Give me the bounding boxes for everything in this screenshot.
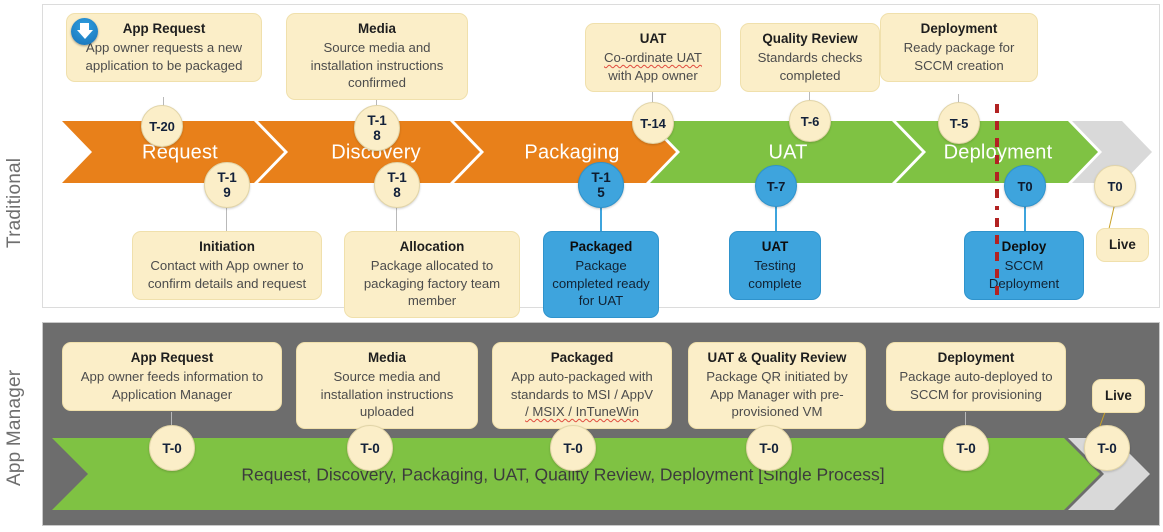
marker-label: T-0 — [560, 441, 586, 456]
am-note-media: Media Source media and installation inst… — [296, 342, 478, 429]
note-title: Live — [1105, 388, 1132, 403]
note-body-line2: with App owner — [608, 68, 697, 83]
marker-label: T-0 — [159, 441, 185, 456]
note-deploy: Deploy SCCM Deployment — [964, 231, 1084, 300]
note-title: Deployment — [895, 349, 1057, 367]
note-body-line3: / MSIX / InTuneWin — [525, 404, 639, 419]
note-title: Media — [295, 20, 459, 38]
note-title: Media — [305, 349, 469, 367]
note-body-line1: App auto-packaged with — [511, 369, 653, 384]
note-initiation: Initiation Contact with App owner to con… — [132, 231, 322, 300]
note-body: App owner feeds information to Applicati… — [81, 369, 264, 402]
note-title: Initiation — [141, 238, 313, 256]
note-title: UAT & Quality Review — [697, 349, 857, 367]
note-body: SCCM Deployment — [989, 258, 1059, 291]
connector — [396, 205, 397, 231]
am-note-uat-quality-review: UAT & Quality Review Package QR initiate… — [688, 342, 866, 429]
note-body: Source media and installation instructio… — [321, 369, 454, 419]
marker-label: T-14 — [640, 116, 666, 131]
marker-label: T-20 — [149, 119, 175, 134]
note-title: Allocation — [353, 238, 511, 256]
note-body-line1: Co-ordinate UAT — [604, 50, 702, 65]
note-body: Package completed ready for UAT — [552, 258, 650, 308]
connector — [1024, 205, 1026, 231]
note-allocation: Allocation Package allocated to packagin… — [344, 231, 520, 318]
marker-t-20: T-20 — [141, 105, 183, 147]
marker-t-5: T-5 — [938, 102, 980, 144]
marker-t-15: T-15 — [578, 162, 624, 208]
am-marker-t-0-5: T-0 — [943, 425, 989, 471]
connector — [775, 205, 777, 231]
marker-label: T-0 — [357, 441, 383, 456]
note-title: Deployment — [889, 20, 1029, 38]
note-title: App Request — [71, 349, 273, 367]
marker-t0-live: T0 — [1094, 165, 1136, 207]
am-note-app-request: App Request App owner feeds information … — [62, 342, 282, 411]
am-marker-t-0-2: T-0 — [347, 425, 393, 471]
am-marker-t-0-3: T-0 — [550, 425, 596, 471]
am-note-live: Live — [1092, 379, 1145, 413]
cutover-divider-top — [995, 104, 999, 210]
note-title: UAT — [738, 238, 812, 256]
note-media: Media Source media and installation inst… — [286, 13, 468, 100]
diagram-canvas: Traditional App Manager App Request App … — [0, 0, 1163, 532]
note-title: Packaged — [501, 349, 663, 367]
marker-label: T-18 — [364, 113, 390, 143]
marker-t-18-bottom: T-18 — [374, 162, 420, 208]
marker-label: T0 — [1102, 179, 1128, 194]
note-body: Ready package for SCCM creation — [904, 40, 1015, 73]
marker-label: T-0 — [1094, 441, 1120, 456]
download-icon — [71, 18, 98, 45]
marker-t-19: T-19 — [204, 162, 250, 208]
marker-label: T-5 — [946, 116, 972, 131]
note-body: Source media and installation instructio… — [311, 40, 444, 90]
marker-t-18-top: T-18 — [354, 105, 400, 151]
note-title: Quality Review — [749, 30, 871, 48]
note-packaged: Packaged Package completed ready for UAT — [543, 231, 659, 318]
am-marker-t-0-4: T-0 — [746, 425, 792, 471]
note-live-traditional: Live — [1096, 228, 1149, 262]
marker-label: T-18 — [384, 170, 410, 200]
note-quality-review: Quality Review Standards checks complete… — [740, 23, 880, 92]
marker-label: T0 — [1012, 179, 1038, 194]
marker-t-7: T-7 — [755, 165, 797, 207]
note-body: Package allocated to packaging factory t… — [364, 258, 500, 308]
marker-label: T-6 — [797, 114, 823, 129]
cutover-divider-bottom — [995, 218, 999, 298]
note-deployment: Deployment Ready package for SCCM creati… — [880, 13, 1038, 82]
marker-t-14: T-14 — [632, 102, 674, 144]
note-uat: UAT Co-ordinate UAT with App owner — [585, 23, 721, 92]
marker-label: T-0 — [756, 441, 782, 456]
note-body: Package QR initiated by App Manager with… — [706, 369, 847, 419]
note-title: Live — [1109, 237, 1136, 252]
note-uat-complete: UAT Testing complete — [729, 231, 821, 300]
note-body-line2: standards to MSI / AppV — [511, 387, 653, 402]
note-title: Deploy — [973, 238, 1075, 256]
row-label-app-manager: App Manager — [4, 335, 26, 520]
note-title: App Request — [75, 20, 253, 38]
marker-label: T-19 — [214, 170, 240, 200]
note-body: Package auto-deployed to SCCM for provis… — [899, 369, 1052, 402]
am-note-deployment: Deployment Package auto-deployed to SCCM… — [886, 342, 1066, 411]
connector — [600, 205, 602, 231]
marker-label: T-0 — [953, 441, 979, 456]
marker-t-6: T-6 — [789, 100, 831, 142]
marker-label: T-7 — [763, 179, 789, 194]
note-body: Contact with App owner to confirm detail… — [148, 258, 306, 291]
row-label-traditional: Traditional — [4, 95, 26, 310]
note-body: App owner requests a new application to … — [86, 40, 243, 73]
marker-label: T-15 — [588, 170, 614, 200]
note-body: Testing complete — [748, 258, 802, 291]
note-title: Packaged — [552, 238, 650, 256]
marker-t0-deploy: T0 — [1004, 165, 1046, 207]
am-note-packaged: Packaged App auto-packaged with standard… — [492, 342, 672, 429]
am-marker-t-0-6: T-0 — [1084, 425, 1130, 471]
am-marker-t-0-1: T-0 — [149, 425, 195, 471]
connector — [226, 205, 227, 231]
note-title: UAT — [594, 30, 712, 48]
note-body: Standards checks completed — [758, 50, 863, 83]
